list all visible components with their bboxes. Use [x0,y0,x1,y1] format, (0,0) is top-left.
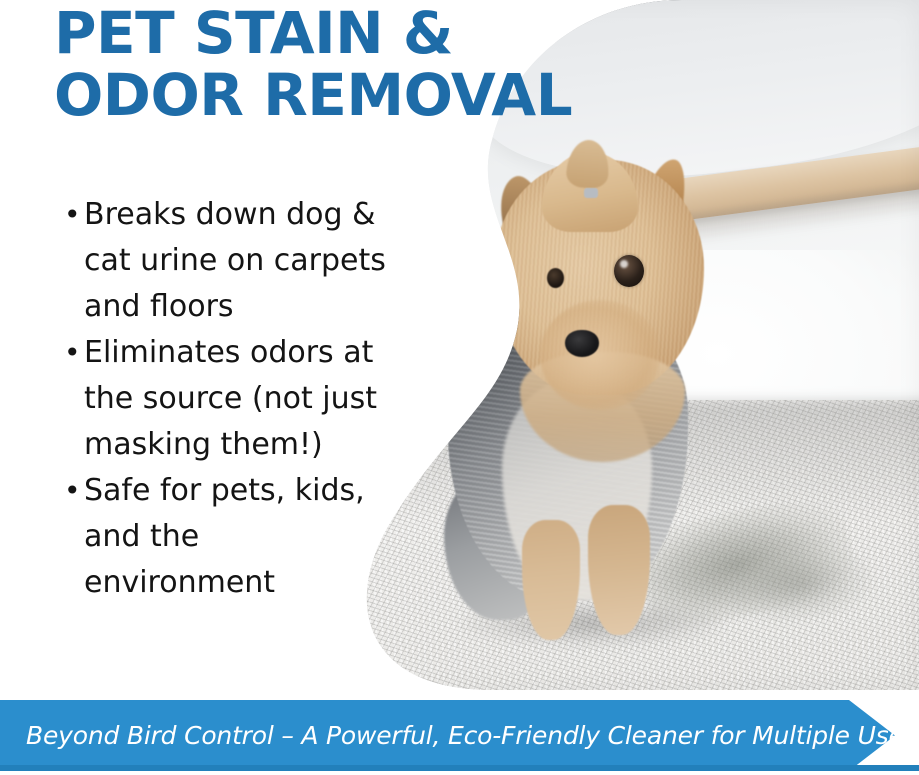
ribbon-spacer [0,690,919,700]
tagline-text: Beyond Bird Control – A Powerful, Eco-Fr… [26,700,919,771]
benefit-text: Safe for pets, kids, and the environment [84,468,390,606]
benefit-text: Breaks down dog & cat urine on carpets a… [84,192,390,330]
product-infographic: PET STAIN & ODOR REMOVAL • Breaks down d… [0,0,919,775]
page-title-line-1: PET STAIN & [54,2,674,64]
page-title: PET STAIN & ODOR REMOVAL [54,2,674,126]
benefit-text: Eliminates odors at the source (not just… [84,330,390,468]
list-item: • Eliminates odors at the source (not ju… [60,330,390,468]
list-item: • Breaks down dog & cat urine on carpets… [60,192,390,330]
bullet-dot-icon: • [60,192,84,238]
bullet-dot-icon: • [60,330,84,376]
list-item: • Safe for pets, kids, and the environme… [60,468,390,606]
bullet-dot-icon: • [60,468,84,514]
page-title-line-2: ODOR REMOVAL [54,64,674,126]
benefits-list: • Breaks down dog & cat urine on carpets… [60,192,390,606]
